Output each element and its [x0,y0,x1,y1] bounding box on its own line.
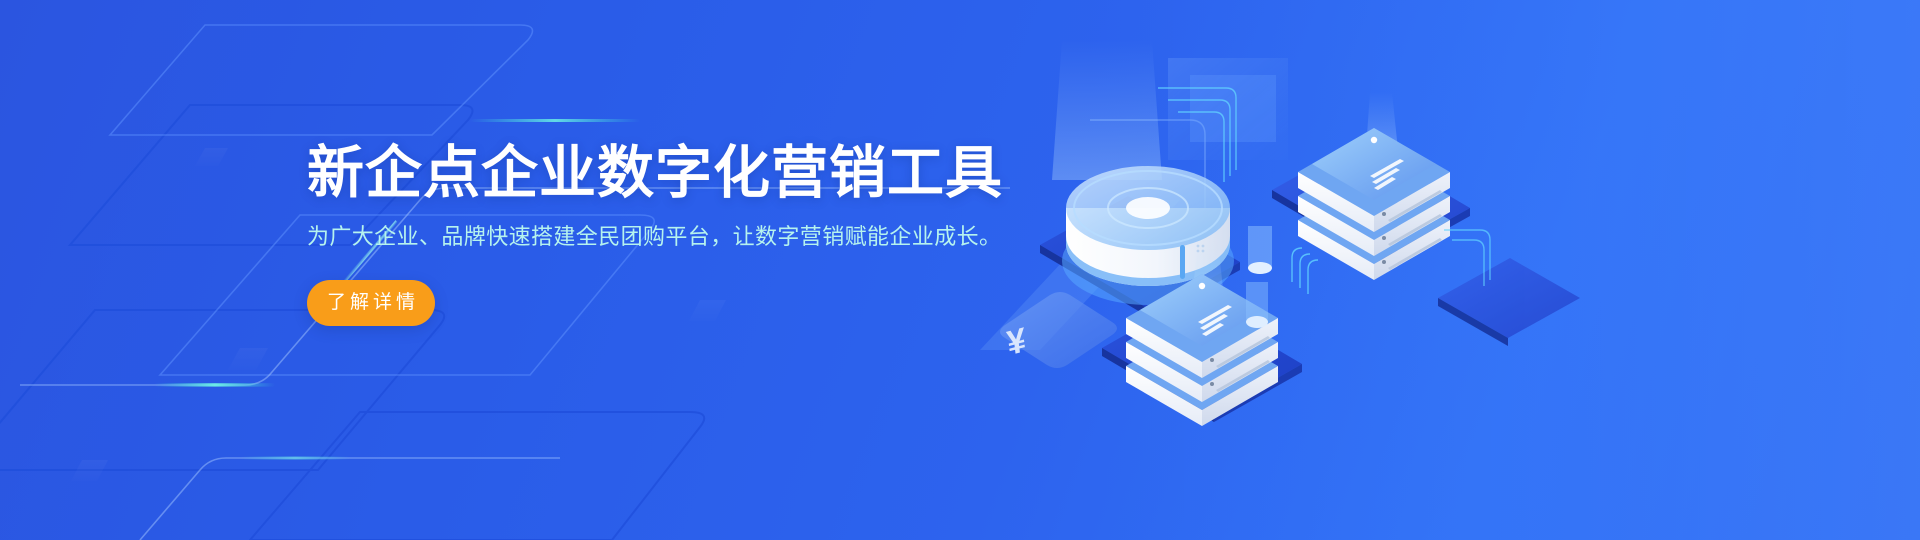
hub-indicator [1180,245,1185,279]
learn-more-button[interactable]: 了解详情 [307,280,435,326]
banner-title: 新企点企业数字化营销工具 [307,140,1007,206]
pin-cylinder-a [1248,226,1272,274]
server-upper-led [1371,137,1377,143]
background-panel [1168,58,1288,160]
pin-cylinder-b [1246,282,1268,328]
banner-copy: 新企点企业数字化营销工具 为广大企业、品牌快速搭建全民团购平台，让数字营销赋能企… [307,140,1007,326]
circuit-traces-lower [1292,248,1318,294]
light-beam-hub [1052,40,1162,180]
promo-banner: 新企点企业数字化营销工具 为广大企业、品牌快速搭建全民团购平台，让数字营销赋能企… [0,0,1920,540]
server-stack-upper [1298,128,1450,280]
server-lower-led [1199,283,1205,289]
isometric-illustration: ¥ [1040,30,1540,450]
banner-subtitle: 为广大企业、品牌快速搭建全民团购平台，让数字营销赋能企业成长。 [307,222,1007,252]
